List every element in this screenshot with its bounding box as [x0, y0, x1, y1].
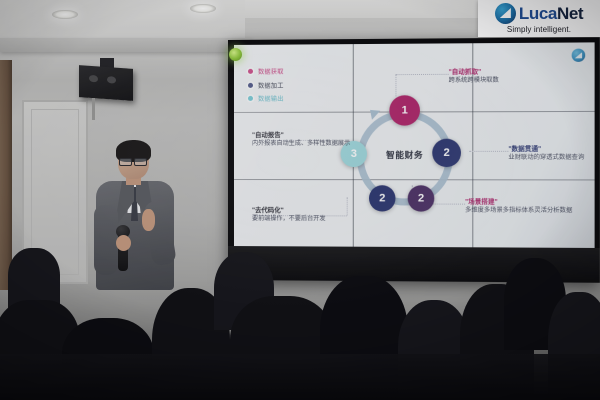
brand-lockup: LucaNet [495, 3, 583, 24]
cycle-node-2-bottom-right[interactable]: 2 [408, 185, 435, 211]
ceiling-downlight-icon [190, 4, 216, 13]
cycle-diagram: 1 2 2 2 3 智能财务 [343, 96, 467, 220]
callout-subtitle: 业财联动的穿透式数据查询 [508, 154, 584, 163]
ceiling-downlight-icon [52, 10, 78, 19]
legend-dot-icon [248, 96, 253, 101]
wood-post [0, 60, 12, 290]
audience-foreground-band [0, 354, 600, 400]
cycle-node-number: 2 [379, 192, 385, 204]
brand-name-part2: Net [557, 4, 583, 23]
lucanet-circle-logo-icon [495, 3, 516, 24]
callout-top-right: "自动抓取" 跨系统跨模块取数 [449, 67, 499, 86]
ceiling-soffit [0, 38, 252, 52]
legend-label: 数据输出 [258, 94, 284, 103]
callout-guide [469, 151, 508, 152]
cycle-node-number: 1 [402, 104, 408, 116]
legend-label: 数据加工 [258, 80, 284, 89]
callout-title: "数据贯通" [508, 145, 584, 155]
brand-watermark: LucaNet Simply intelligent. [478, 0, 600, 37]
callout-subtitle: 跨系统跨模块取数 [449, 77, 499, 86]
legend-dot-icon [248, 82, 253, 87]
callout-bottom-right: "场景搭建" 多维度多场景多指标体系灵活分析数据 [465, 198, 572, 217]
video-wall[interactable]: 数据获取 数据加工 数据输出 [228, 37, 600, 283]
callout-middle-left: "自动报告" 内外报表自动生成、多样性数据展示 [252, 131, 350, 149]
callout-bottom-left: "去代码化" 要前端操作，不要后台开发 [252, 206, 326, 224]
legend-item: 数据输出 [248, 94, 284, 103]
cycle-node-1[interactable]: 1 [389, 95, 420, 125]
callout-title: "自动报告" [252, 131, 350, 140]
brand-tagline: Simply intelligent. [507, 25, 571, 34]
callout-guide [395, 74, 448, 75]
callout-middle-right: "数据贯通" 业财联动的穿透式数据查询 [508, 145, 584, 164]
power-led-icon [229, 48, 242, 61]
callout-subtitle: 多维度多场景多指标体系灵活分析数据 [465, 207, 572, 216]
legend-dot-icon [248, 69, 253, 74]
callout-guide [395, 74, 396, 96]
slide-legend: 数据获取 数据加工 数据输出 [248, 67, 284, 108]
presentation-slide: 数据获取 数据加工 数据输出 [234, 42, 595, 248]
cycle-center-label: 智能财务 [343, 149, 467, 161]
brand-name-part1: Luca [519, 4, 557, 23]
legend-label: 数据获取 [258, 67, 284, 76]
callout-subtitle: 要前端操作，不要后台开发 [252, 215, 326, 224]
cycle-node-2-bottom-left[interactable]: 2 [369, 185, 395, 211]
presenter-arm [94, 205, 118, 275]
legend-item: 数据加工 [248, 80, 284, 89]
video-wall-screen[interactable]: 数据获取 数据加工 数据输出 [234, 42, 595, 248]
slide-corner-logo-icon [572, 49, 586, 62]
eyeglasses-icon [119, 158, 147, 164]
projector-cable [92, 98, 95, 120]
legend-item: 数据获取 [248, 67, 284, 76]
cycle-node-number: 2 [418, 192, 424, 204]
presenter [92, 143, 178, 290]
presenter-hand [142, 209, 155, 231]
ceiling-projector-icon [79, 65, 133, 101]
presenter-hand [116, 235, 131, 251]
brand-name: LucaNet [519, 5, 583, 22]
presentation-photo-scene: 数据获取 数据加工 数据输出 [0, 0, 600, 400]
callout-subtitle: 内外报表自动生成、多样性数据展示 [252, 140, 350, 149]
